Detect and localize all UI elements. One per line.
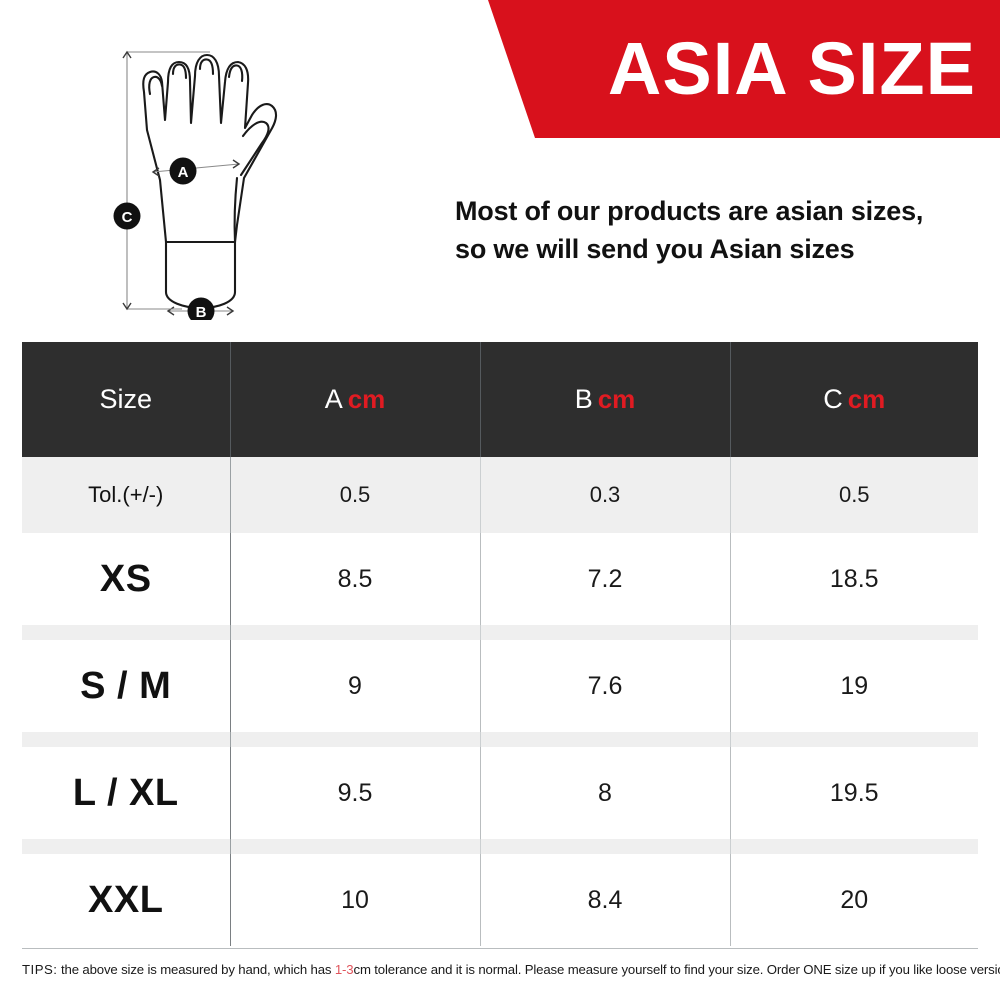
glove-measurement-diagram: A B C: [92, 20, 322, 320]
row-separator: [22, 839, 978, 854]
size-chart-table: Size Acm Bcm Ccm Tol.(+/-) 0.5 0.3 0.5 X…: [22, 342, 978, 946]
subtitle-line-1: Most of our products are asian sizes,: [455, 192, 985, 230]
column-header-a-letter: A: [325, 384, 343, 414]
marker-c: C: [114, 203, 141, 230]
cell-size: XS: [22, 533, 230, 625]
cell-c: 20: [730, 854, 978, 946]
column-header-c-unit: cm: [848, 384, 886, 414]
marker-b: B: [188, 298, 215, 321]
glove-shape: [143, 55, 276, 308]
cell-b: 8: [480, 747, 730, 839]
cell-a: 9: [230, 640, 480, 732]
cell-a: 8.5: [230, 533, 480, 625]
table-header-row: Size Acm Bcm Ccm: [22, 342, 978, 457]
separator-cell: [22, 839, 230, 854]
cell-a: 0.5: [230, 457, 480, 533]
column-header-b: Bcm: [480, 342, 730, 457]
cell-b: 8.4: [480, 854, 730, 946]
middle-inner-line: [200, 59, 213, 74]
column-header-b-unit: cm: [598, 384, 636, 414]
cell-c: 18.5: [730, 533, 978, 625]
cell-b: 7.2: [480, 533, 730, 625]
separator-cell: [480, 625, 730, 640]
row-separator: [22, 732, 978, 747]
cell-c: 19.5: [730, 747, 978, 839]
subtitle-line-2: so we will send you Asian sizes: [455, 230, 985, 268]
marker-a: A: [170, 158, 197, 185]
separator-cell: [730, 625, 978, 640]
separator-cell: [230, 625, 480, 640]
tips-part-1: the above size is measured by hand, whic…: [57, 962, 334, 977]
table-row: S / M 9 7.6 19: [22, 640, 978, 732]
ring-inner-line: [173, 64, 186, 78]
separator-cell: [230, 732, 480, 747]
column-header-b-letter: B: [575, 384, 593, 414]
tips-note: TIPS: the above size is measured by hand…: [22, 962, 982, 977]
glove-body-path: [143, 55, 276, 242]
marker-b-label: B: [196, 304, 207, 320]
cell-c: 0.5: [730, 457, 978, 533]
thumb-inner-line: [241, 122, 269, 175]
table-row: L / XL 9.5 8 19.5: [22, 747, 978, 839]
separator-cell: [730, 732, 978, 747]
asia-size-banner: ASIA SIZE: [480, 0, 1000, 138]
table-row: XS 8.5 7.2 18.5: [22, 533, 978, 625]
tips-highlight: 1-3: [335, 962, 354, 977]
cell-size: S / M: [22, 640, 230, 732]
index-inner-line: [229, 65, 242, 81]
separator-cell: [480, 732, 730, 747]
table-body: Tol.(+/-) 0.5 0.3 0.5 XS 8.5 7.2 18.5 S …: [22, 457, 978, 946]
table-row: Tol.(+/-) 0.5 0.3 0.5: [22, 457, 978, 533]
table-row: XXL 10 8.4 20: [22, 854, 978, 946]
cell-b: 7.6: [480, 640, 730, 732]
separator-cell: [22, 732, 230, 747]
cell-a: 9.5: [230, 747, 480, 839]
banner-title: ASIA SIZE: [608, 32, 976, 106]
column-header-size-label: Size: [99, 384, 152, 414]
pinky-inner-line: [149, 77, 162, 94]
column-header-a: Acm: [230, 342, 480, 457]
marker-a-label: A: [178, 164, 189, 181]
separator-cell: [730, 839, 978, 854]
marker-c-label: C: [122, 209, 133, 226]
tips-label: TIPS:: [22, 962, 57, 977]
column-header-a-unit: cm: [348, 384, 386, 414]
cell-size: Tol.(+/-): [22, 457, 230, 533]
cell-size: L / XL: [22, 747, 230, 839]
cell-b: 0.3: [480, 457, 730, 533]
row-separator: [22, 625, 978, 640]
separator-cell: [22, 625, 230, 640]
table-header: Size Acm Bcm Ccm: [22, 342, 978, 457]
tips-part-2: cm tolerance and it is normal. Please me…: [354, 962, 1000, 977]
separator-cell: [480, 839, 730, 854]
cell-a: 10: [230, 854, 480, 946]
cell-size: XXL: [22, 854, 230, 946]
column-header-c: Ccm: [730, 342, 978, 457]
table-bottom-rule: [22, 948, 978, 949]
cell-c: 19: [730, 640, 978, 732]
separator-cell: [230, 839, 480, 854]
subtitle-text: Most of our products are asian sizes, so…: [455, 192, 985, 269]
column-header-size: Size: [22, 342, 230, 457]
glove-outline-svg: A B C: [92, 20, 322, 320]
column-header-c-letter: C: [823, 384, 843, 414]
